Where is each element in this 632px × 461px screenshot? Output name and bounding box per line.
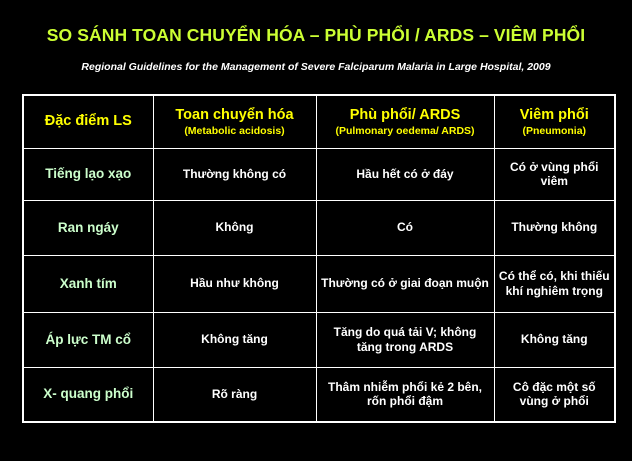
cell-acidosis: Không: [153, 200, 316, 255]
cell-pneumonia: Thường không: [494, 200, 615, 255]
row-label: Xanh tím: [23, 255, 153, 312]
column-header-pneumonia-sublabel: (Pneumonia): [499, 125, 611, 137]
column-header-acidosis-sublabel: (Metabolic acidosis): [158, 125, 312, 137]
table-row: Tiếng lạo xạo Thường không có Hầu hết có…: [23, 148, 615, 200]
table-header-row: Đặc điểm LS Toan chuyển hóa (Metabolic a…: [23, 95, 615, 148]
page-subtitle: Regional Guidelines for the Management o…: [0, 61, 632, 73]
comparison-table-container: Đặc điểm LS Toan chuyển hóa (Metabolic a…: [22, 94, 614, 421]
page-title: SO SÁNH TOAN CHUYỂN HÓA – PHÙ PHỔI / ARD…: [0, 25, 632, 46]
row-label: Áp lực TM cổ: [23, 312, 153, 367]
cell-pneumonia: Không tăng: [494, 312, 615, 367]
column-header-feature: Đặc điểm LS: [23, 95, 153, 148]
cell-ards: Có: [316, 200, 494, 255]
column-header-ards-label: Phù phổi/ ARDS: [321, 107, 490, 124]
cell-ards: Thâm nhiễm phổi kẻ 2 bên, rốn phổi đậm: [316, 367, 494, 422]
cell-ards: Hầu hết có ở đáy: [316, 148, 494, 200]
table-row: X- quang phổi Rõ ràng Thâm nhiễm phổi kẻ…: [23, 367, 615, 422]
table-row: Ran ngáy Không Có Thường không: [23, 200, 615, 255]
cell-pneumonia: Có thể có, khi thiếu khí nghiêm trọng: [494, 255, 615, 312]
column-header-ards-sublabel: (Pulmonary oedema/ ARDS): [321, 125, 490, 137]
comparison-table: Đặc điểm LS Toan chuyển hóa (Metabolic a…: [22, 94, 616, 423]
column-header-feature-label: Đặc điểm LS: [28, 113, 149, 130]
cell-acidosis: Thường không có: [153, 148, 316, 200]
row-label: X- quang phổi: [23, 367, 153, 422]
cell-ards: Thường có ở giai đoạn muộn: [316, 255, 494, 312]
slide-canvas: SO SÁNH TOAN CHUYỂN HÓA – PHÙ PHỔI / ARD…: [0, 0, 632, 461]
column-header-pneumonia: Viêm phổi (Pneumonia): [494, 95, 615, 148]
column-header-ards: Phù phổi/ ARDS (Pulmonary oedema/ ARDS): [316, 95, 494, 148]
table-row: Áp lực TM cổ Không tăng Tăng do quá tải …: [23, 312, 615, 367]
table-row: Xanh tím Hầu như không Thường có ở giai …: [23, 255, 615, 312]
cell-ards: Tăng do quá tải V; không tăng trong ARDS: [316, 312, 494, 367]
cell-pneumonia: Cô đặc một số vùng ở phổi: [494, 367, 615, 422]
cell-acidosis: Không tăng: [153, 312, 316, 367]
column-header-pneumonia-label: Viêm phổi: [499, 107, 611, 124]
row-label: Ran ngáy: [23, 200, 153, 255]
cell-acidosis: Hầu như không: [153, 255, 316, 312]
row-label: Tiếng lạo xạo: [23, 148, 153, 200]
column-header-acidosis: Toan chuyển hóa (Metabolic acidosis): [153, 95, 316, 148]
column-header-acidosis-label: Toan chuyển hóa: [158, 107, 312, 124]
cell-pneumonia: Có ở vùng phổi viêm: [494, 148, 615, 200]
cell-acidosis: Rõ ràng: [153, 367, 316, 422]
